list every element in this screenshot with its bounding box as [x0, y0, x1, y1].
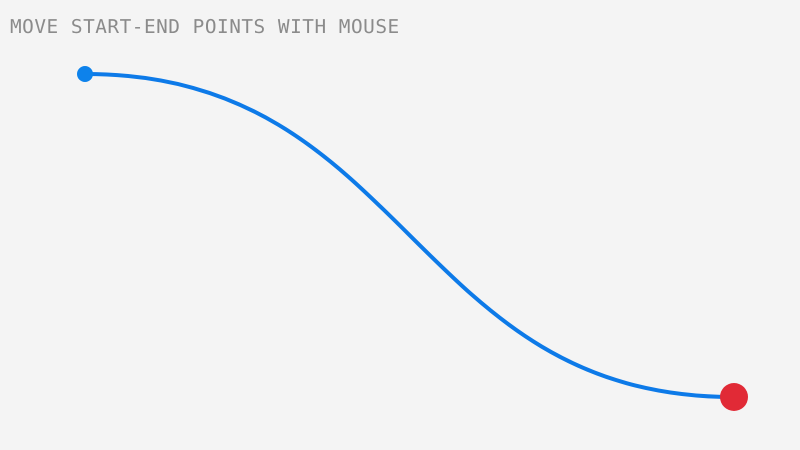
page-title: MOVE START-END POINTS WITH MOUSE — [10, 17, 400, 37]
bezier-canvas[interactable] — [0, 0, 800, 450]
end-point-drag-target[interactable] — [714, 377, 754, 417]
app-root: MOVE START-END POINTS WITH MOUSE — [0, 0, 800, 450]
start-point-drag-target[interactable] — [69, 58, 101, 90]
